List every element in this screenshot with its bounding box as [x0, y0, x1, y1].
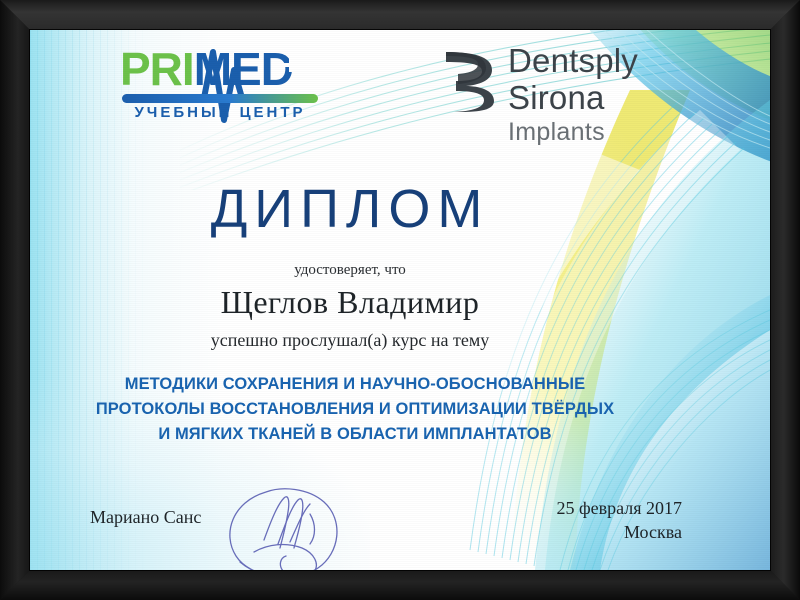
frame-bevel-left	[0, 0, 30, 600]
issue-date: 25 февраля 2017	[556, 496, 682, 520]
completion-line: успешно прослушал(а) курс на тему	[30, 330, 670, 351]
certificate-frame: PRIMED УЧЕБНЫЙ ЦЕНТР Den	[0, 0, 800, 600]
certificate-paper: PRIMED УЧЕБНЫЙ ЦЕНТР Den	[30, 30, 770, 570]
certifies-line: удостоверяет, что	[30, 262, 670, 279]
issue-city: Москва	[556, 520, 682, 544]
frame-bevel-right	[770, 0, 800, 600]
date-block: 25 февраля 2017 Москва	[556, 496, 682, 544]
course-title-line-1: МЕТОДИКИ СОХРАНЕНИЯ И НАУЧНО-ОБОСНОВАННЫ…	[40, 372, 670, 397]
handwritten-signature	[220, 478, 350, 570]
course-title: МЕТОДИКИ СОХРАНЕНИЯ И НАУЧНО-ОБОСНОВАННЫ…	[40, 372, 670, 447]
frame-bevel-top	[0, 0, 800, 30]
page-title: ДИПЛОМ	[30, 178, 670, 240]
course-title-line-2: ПРОТОКОЛЫ ВОССТАНОВЛЕНИЯ И ОПТИМИЗАЦИИ Т…	[40, 397, 670, 422]
course-title-line-3: И МЯГКИХ ТКАНЕЙ В ОБЛАСТИ ИМПЛАНТАТОВ	[40, 422, 670, 447]
recipient-name: Щеглов Владимир	[30, 284, 670, 321]
certificate-body: ДИПЛОМ удостоверяет, что Щеглов Владимир…	[30, 30, 770, 570]
frame-bevel-bottom	[0, 570, 800, 600]
signatory-name: Мариано Санс	[90, 507, 201, 528]
